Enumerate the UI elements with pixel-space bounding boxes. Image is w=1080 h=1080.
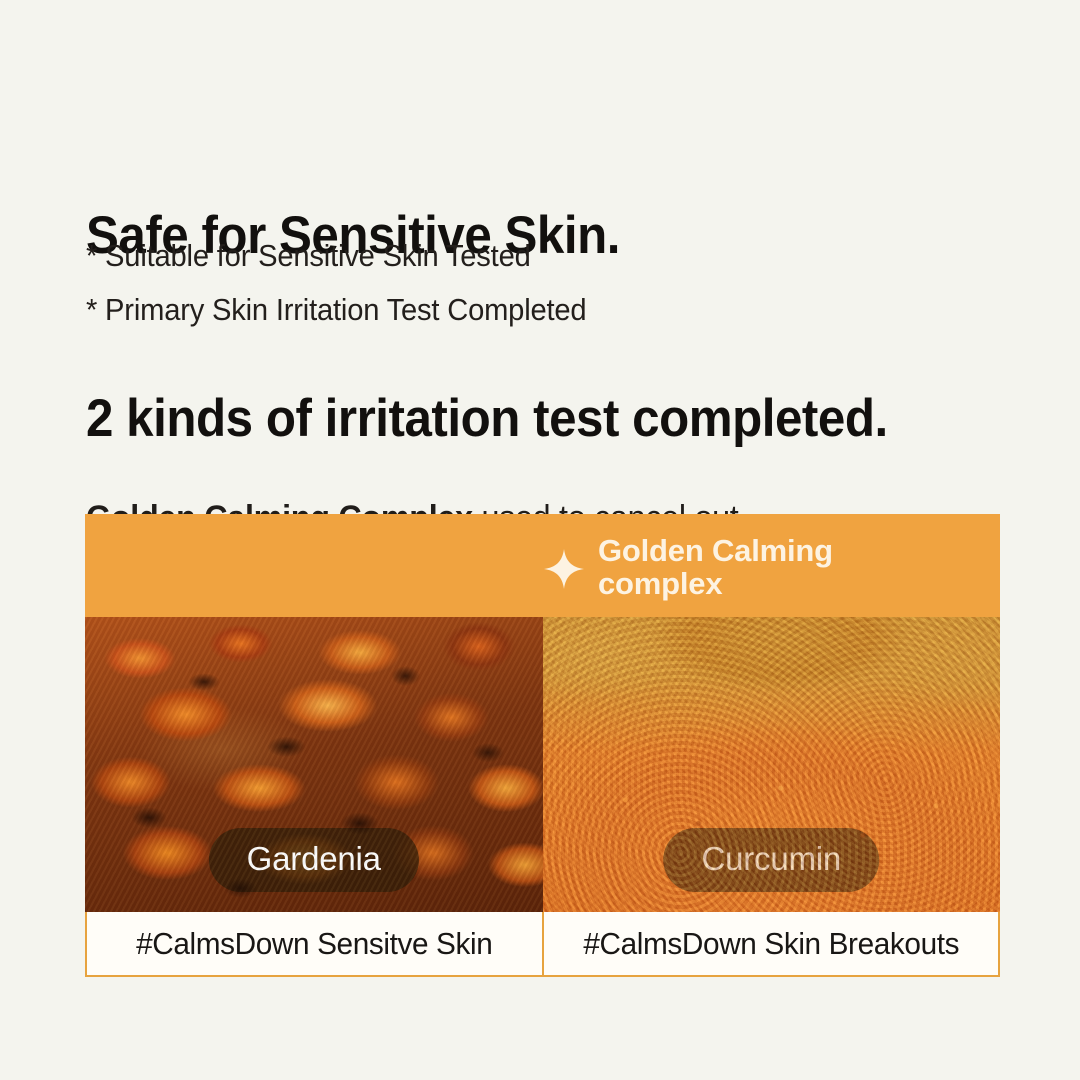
claims-list: * Suitable for Sensitive Skin Tested * P… xyxy=(86,229,966,337)
product-infographic: Safe for Sensitive Skin. 2 kinds of irri… xyxy=(0,0,1080,1080)
claim-item-1: * Suitable for Sensitive Skin Tested xyxy=(86,229,913,283)
gardenia-label: Gardenia xyxy=(209,828,419,892)
curcumin-caption: #CalmsDown Skin Breakouts xyxy=(553,912,989,975)
ingredient-photos: Gardenia Curcumin xyxy=(85,617,1000,912)
banner-title: Golden Calming complex xyxy=(598,534,833,600)
banner-content: Golden Calming complex xyxy=(544,534,833,600)
sparkle-icon xyxy=(544,549,584,589)
golden-calming-complex-card: Golden Calming complex Gardenia Curcumin… xyxy=(85,514,1000,977)
ingredient-captions: #CalmsDown Sensitve Skin #CalmsDown Skin… xyxy=(85,912,1000,977)
curcumin-photo: Curcumin xyxy=(543,617,1001,912)
complex-banner: Golden Calming complex xyxy=(85,514,1000,617)
caption-divider xyxy=(542,912,544,975)
gardenia-caption: #CalmsDown Sensitve Skin xyxy=(96,912,532,975)
curcumin-label: Curcumin xyxy=(663,828,879,892)
gardenia-photo: Gardenia xyxy=(85,617,543,912)
claim-item-2: * Primary Skin Irritation Test Completed xyxy=(86,283,913,337)
